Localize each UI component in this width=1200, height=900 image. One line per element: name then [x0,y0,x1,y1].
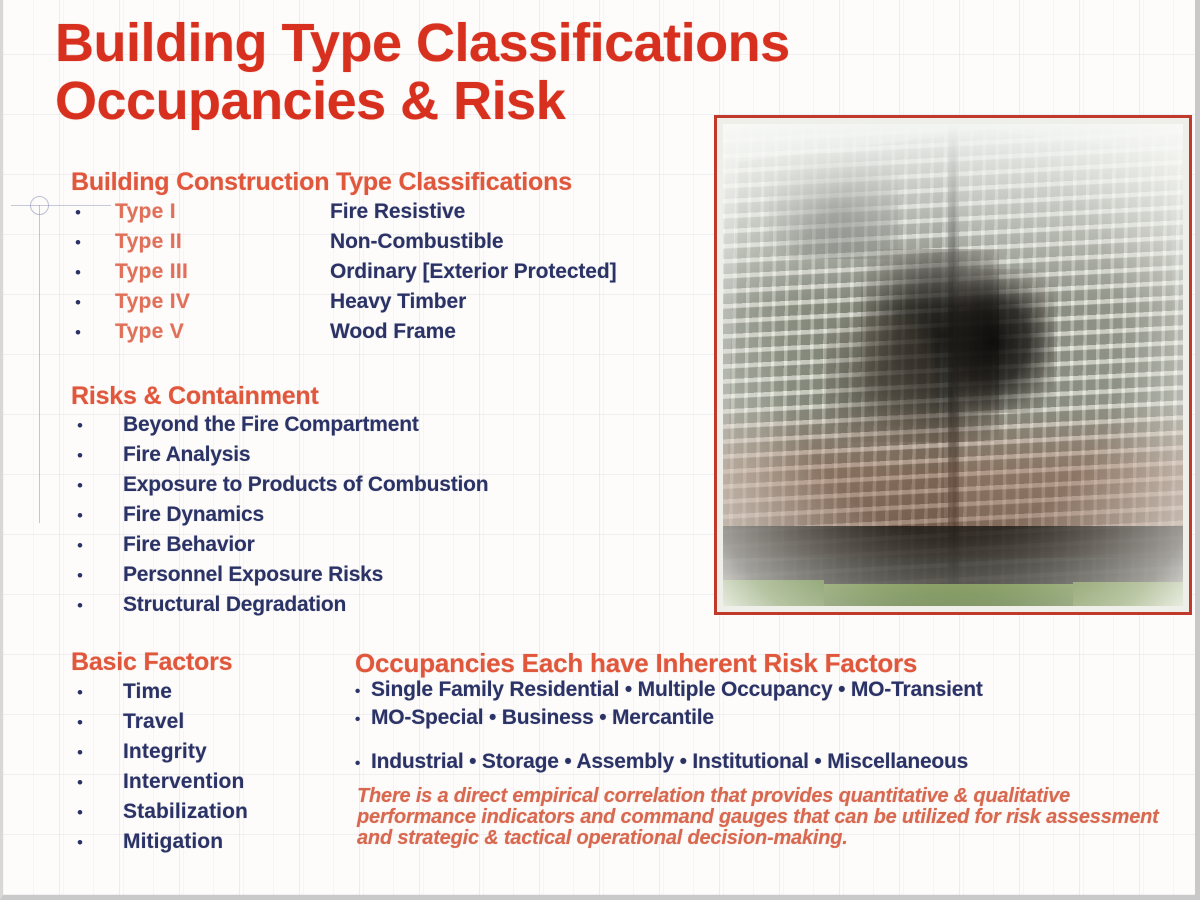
occupancy-text: Single Family Residential • Multiple Occ… [371,678,983,702]
risk-list-item: •Fire Behavior [71,533,488,563]
basic-factor-label: Stabilization [123,800,248,824]
basic-factor-label: Intervention [123,770,244,794]
construction-type-row: •Type IFire Resistive [71,200,617,230]
bullet-icon: • [71,477,123,494]
bullet-icon: • [71,294,115,311]
construction-type-row: •Type IIIOrdinary [Exterior Protected] [71,260,617,290]
construction-type-name: Type V [115,320,330,344]
construction-type-description: Non-Combustible [330,230,503,254]
section-heading-construction: Building Construction Type Classificatio… [71,168,572,197]
occupancy-line: •Single Family Residential • Multiple Oc… [355,678,1185,706]
construction-type-name: Type II [115,230,330,254]
bullet-icon: • [355,756,371,771]
construction-type-name: Type IV [115,290,330,314]
risk-label: Fire Behavior [123,533,255,557]
risk-label: Structural Degradation [123,593,346,617]
building-fire-photo-image [723,124,1183,606]
occupancy-text: Industrial • Storage • Assembly • Instit… [371,750,968,774]
bullet-icon: • [71,567,123,584]
risk-label: Exposure to Products of Combustion [123,473,488,497]
basic-factors-list: •Time•Travel•Integrity•Intervention•Stab… [71,680,248,860]
basic-factor-label: Travel [123,710,184,734]
risk-list-item: •Fire Analysis [71,443,488,473]
occupancies-list: •Single Family Residential • Multiple Oc… [355,678,1185,778]
bullet-icon: • [71,744,123,761]
bullet-icon: • [71,774,123,791]
construction-type-name: Type I [115,200,330,224]
basic-factor-item: •Integrity [71,740,248,770]
basic-factor-item: •Time [71,680,248,710]
risk-list-item: •Exposure to Products of Combustion [71,473,488,503]
basic-factor-item: •Mitigation [71,830,248,860]
bullet-icon: • [71,204,115,221]
construction-type-name: Type III [115,260,330,284]
construction-type-row: •Type IVHeavy Timber [71,290,617,320]
bullet-icon: • [71,597,123,614]
empirical-correlation-note: There is a direct empirical correlation … [357,786,1187,849]
slide-canvas: Building Type Classifications Occupancie… [0,0,1200,900]
risk-list-item: •Personnel Exposure Risks [71,563,488,593]
risk-label: Personnel Exposure Risks [123,563,383,587]
bullet-icon: • [71,417,123,434]
bullet-icon: • [355,684,371,699]
risks-list: •Beyond the Fire Compartment•Fire Analys… [71,413,488,623]
section-heading-basic-factors: Basic Factors [71,648,232,677]
basic-factor-item: •Intervention [71,770,248,800]
bullet-icon: • [355,712,371,727]
construction-type-description: Wood Frame [330,320,456,344]
occupancy-text: MO-Special • Business • Mercantile [371,706,714,730]
photo-vignette [723,124,1183,606]
layout-guide-vertical [39,205,40,523]
section-heading-occupancies: Occupancies Each have Inherent Risk Fact… [355,648,917,679]
construction-type-description: Fire Resistive [330,200,465,224]
bullet-icon: • [71,804,123,821]
bullet-icon: • [71,537,123,554]
bullet-icon: • [71,234,115,251]
basic-factor-label: Time [123,680,172,704]
risk-list-item: •Beyond the Fire Compartment [71,413,488,443]
construction-type-description: Heavy Timber [330,290,466,314]
construction-type-list: •Type IFire Resistive•Type IINon-Combust… [71,200,617,350]
risk-label: Fire Analysis [123,443,250,467]
basic-factor-item: •Stabilization [71,800,248,830]
bullet-icon: • [71,264,115,281]
building-fire-photo [714,115,1192,615]
basic-factor-item: •Travel [71,710,248,740]
construction-type-row: •Type VWood Frame [71,320,617,350]
risk-label: Fire Dynamics [123,503,264,527]
risk-label: Beyond the Fire Compartment [123,413,419,437]
construction-type-description: Ordinary [Exterior Protected] [330,260,617,284]
bullet-icon: • [71,684,123,701]
occupancy-line: •Industrial • Storage • Assembly • Insti… [355,750,1185,778]
bullet-icon: • [71,714,123,731]
basic-factor-label: Mitigation [123,830,223,854]
bullet-icon: • [71,324,115,341]
layout-guide-handle [30,196,49,215]
bullet-icon: • [71,834,123,851]
section-heading-risks: Risks & Containment [71,382,319,411]
risk-list-item: •Structural Degradation [71,593,488,623]
risk-list-item: •Fire Dynamics [71,503,488,533]
page-title: Building Type Classifications Occupancie… [55,14,790,131]
occupancy-line: •MO-Special • Business • Mercantile [355,706,1185,734]
construction-type-row: •Type IINon-Combustible [71,230,617,260]
bullet-icon: • [71,447,123,464]
basic-factor-label: Integrity [123,740,207,764]
bullet-icon: • [71,507,123,524]
